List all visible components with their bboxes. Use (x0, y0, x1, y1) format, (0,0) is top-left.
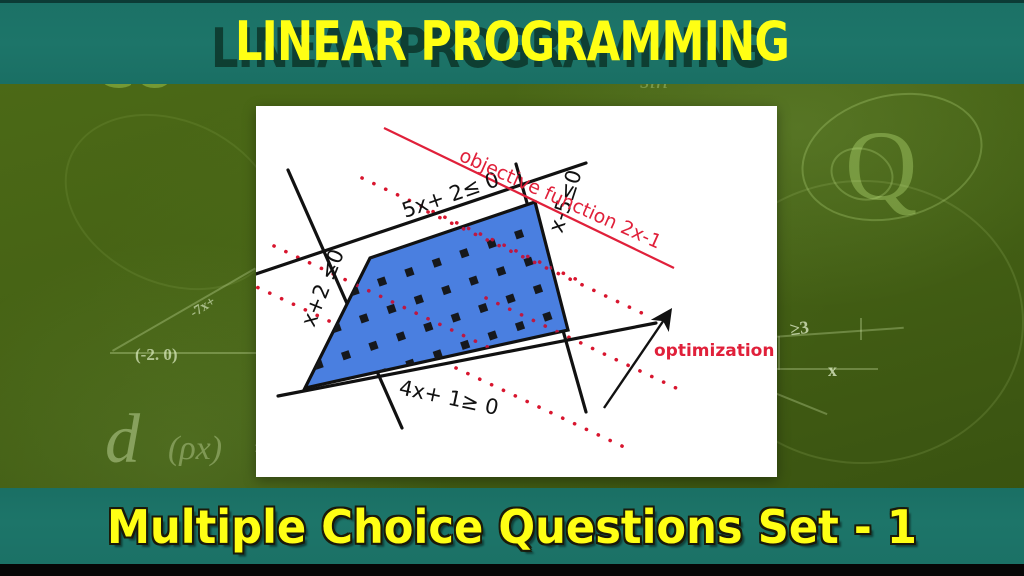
chalk-text-d: d (105, 400, 140, 480)
chalk-text-geq3: ≥3 (789, 317, 811, 340)
constraint-label-4x1: 4x+ 1≥ 0 (397, 375, 501, 419)
chalk-stroke-diagonal (769, 390, 827, 415)
chalk-axis-right-horizontal (770, 368, 878, 370)
optimization-label: optimization (654, 341, 774, 361)
chalk-axis-right-vertical (778, 336, 780, 370)
page-title: LINEAR PROGRAMMING (102, 12, 921, 74)
chalk-tick-right (860, 318, 862, 340)
chalk-ellipse-small (824, 139, 901, 208)
chalk-ellipse-large (788, 75, 997, 240)
chalk-text-rho: (ρx) (168, 430, 222, 468)
chalk-text-q: Q (845, 108, 917, 223)
chalk-axis-left-horizontal (110, 352, 260, 354)
linear-programming-diagram: 5x+ 2≤ 0 x+2 ≤0 x-5≤0 4x+ 1≥ 0 objective… (256, 106, 777, 477)
chalk-text-axis-x: x (828, 360, 837, 381)
chalk-text-slope: -7x+ (188, 294, 219, 322)
diagram-card: 5x+ 2≤ 0 x+2 ≤0 x-5≤0 4x+ 1≥ 0 objective… (256, 106, 777, 477)
chalk-text-point: (-2. 0) (135, 345, 177, 365)
page-subtitle: Multiple Choice Questions Set - 1 (31, 498, 994, 558)
slide-canvas: co sin Q (-2. 0) -7x+ d (ρx) = ρx ≥3 x (0, 0, 1024, 576)
chalk-axis-right-tilted (772, 327, 904, 338)
chalk-axis-left-diagonal (112, 268, 256, 352)
footer-bar (0, 564, 1024, 576)
